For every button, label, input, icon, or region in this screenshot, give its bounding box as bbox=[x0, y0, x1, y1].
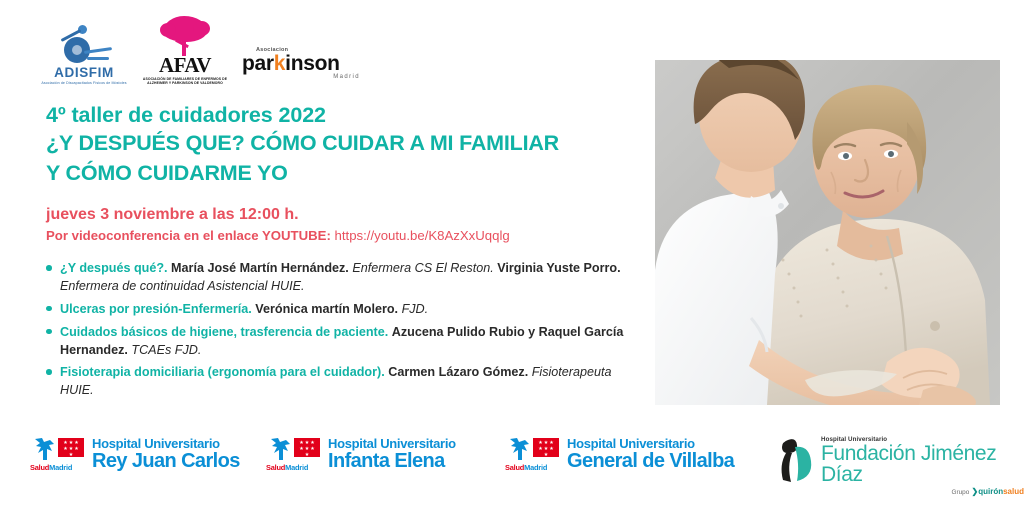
bear-and-tree-icon bbox=[505, 437, 531, 462]
wheelchair-person-icon bbox=[54, 23, 114, 65]
salud-text: Salud bbox=[505, 463, 524, 472]
hospital-line-1: Hospital Universitario bbox=[567, 437, 734, 451]
logo-adisfim: ADISFIM Asociación de Discapacitados Fís… bbox=[40, 23, 128, 86]
talk-speaker-role: TCAEs FJD. bbox=[131, 343, 201, 357]
footer-logos: ★★★ ★★★ ★ SaludMadrid Hospital Universit… bbox=[0, 432, 1024, 494]
logo-hospital-general-de-villalba: ★★★ ★★★ ★ SaludMadrid Hospital Universit… bbox=[505, 437, 734, 473]
list-item: Fisioterapia domiciliaria (ergonomía par… bbox=[44, 364, 644, 400]
list-item: Cuidados básicos de higiene, trasferenci… bbox=[44, 324, 644, 360]
parkinson-wordmark: parkinson bbox=[242, 53, 360, 74]
salud-text: salud bbox=[1003, 487, 1024, 496]
adisfim-subtitle: Asociación de Discapacitados Físicos de … bbox=[40, 81, 128, 86]
parkinson-name-post: inson bbox=[285, 52, 340, 75]
madrid-flag-icon: ★★★ ★★★ ★ bbox=[533, 438, 559, 457]
headline-block: 4º taller de cuidadores 2022 ¿Y DESPUÉS … bbox=[46, 101, 646, 188]
list-item: Ulceras por presión-Enfermería. Verónica… bbox=[44, 301, 644, 319]
hospital-line-1: Hospital Universitario bbox=[328, 437, 456, 451]
hospital-line-2: General de Villalba bbox=[567, 451, 734, 473]
quiron-text: quirón bbox=[978, 487, 1003, 496]
poster-canvas: ADISFIM Asociación de Discapacitados Fís… bbox=[0, 0, 1024, 512]
talk-speaker: Carmen Lázaro Gómez. bbox=[388, 365, 528, 379]
hospital-name-block: Hospital Universitario Rey Juan Carlos bbox=[92, 437, 240, 473]
talk-speaker-role: Enfermera de continuidad Asistencial HUI… bbox=[60, 279, 305, 293]
talks-list: ¿Y después qué?. María José Martín Herná… bbox=[44, 260, 644, 405]
event-link-line: Por videoconferencia en el enlace YOUTUB… bbox=[46, 226, 646, 246]
hospital-line-2: Rey Juan Carlos bbox=[92, 451, 240, 473]
fjd-text-block: Hospital Universitario Fundación Jiménez… bbox=[821, 436, 1024, 496]
salud-text: Salud bbox=[30, 463, 49, 472]
salud-madrid-mark: ★★★ ★★★ ★ SaludMadrid bbox=[266, 437, 322, 472]
event-meta-block: jueves 3 noviembre a las 12:00 h. Por vi… bbox=[46, 203, 646, 246]
afav-name: AFAV bbox=[142, 56, 228, 75]
event-date: jueves 3 noviembre a las 12:00 h. bbox=[46, 203, 646, 226]
madrid-text: Madrid bbox=[49, 463, 72, 472]
talk-topic: Fisioterapia domiciliaria (ergonomía par… bbox=[60, 365, 385, 379]
nurse-with-elderly-woman-photo bbox=[655, 60, 1000, 405]
parkinson-name-k: k bbox=[274, 52, 285, 75]
hospital-name-block: Hospital Universitario Infanta Elena bbox=[328, 437, 456, 473]
list-item: ¿Y después qué?. María José Martín Herná… bbox=[44, 260, 644, 296]
talk-topic: Cuidados básicos de higiene, trasferenci… bbox=[60, 325, 388, 339]
headline-line-3: Y CÓMO CUIDARME YO bbox=[46, 159, 646, 188]
fjd-group-label: Grupo bbox=[952, 489, 970, 496]
salud-madrid-wordmark: SaludMadrid bbox=[505, 463, 561, 472]
fjd-group-line: Grupo ❯quirónsalud bbox=[821, 488, 1024, 496]
logo-fundacion-jimenez-diaz: Hospital Universitario Fundación Jiménez… bbox=[775, 436, 1024, 496]
bullet-icon bbox=[46, 306, 52, 312]
talk-speaker-role: FJD. bbox=[402, 302, 429, 316]
logo-parkinson: Asociacion parkinson Madrid bbox=[242, 47, 360, 86]
logo-afav: AFAV ASOCIACIÓN DE FAMILIARES DE ENFERMO… bbox=[142, 16, 228, 86]
fjd-symbol-icon bbox=[775, 436, 817, 484]
bear-and-tree-icon bbox=[30, 437, 56, 462]
bullet-icon bbox=[46, 369, 52, 375]
bear-and-tree-icon bbox=[266, 437, 292, 462]
talk-speaker: Verónica martín Molero. bbox=[255, 302, 398, 316]
parkinson-name-pre: par bbox=[242, 52, 274, 75]
talk-topic: ¿Y después qué?. bbox=[60, 261, 168, 275]
logo-hospital-rey-juan-carlos: ★★★ ★★★ ★ SaludMadrid Hospital Universit… bbox=[30, 437, 240, 473]
bullet-icon bbox=[46, 265, 52, 271]
fjd-line-2: Fundación Jiménez Díaz bbox=[821, 443, 1024, 486]
salud-text: Salud bbox=[266, 463, 285, 472]
madrid-flag-icon: ★★★ ★★★ ★ bbox=[58, 438, 84, 457]
headline-line-1: 4º taller de cuidadores 2022 bbox=[46, 101, 646, 129]
madrid-text: Madrid bbox=[285, 463, 308, 472]
talk-speaker: Virginia Yuste Porro. bbox=[497, 261, 620, 275]
hospital-line-1: Hospital Universitario bbox=[92, 437, 240, 451]
afav-subtitle: ASOCIACIÓN DE FAMILIARES DE ENFERMOS DE … bbox=[142, 77, 228, 86]
logo-hospital-infanta-elena: ★★★ ★★★ ★ SaludMadrid Hospital Universit… bbox=[266, 437, 456, 473]
hospital-line-2: Infanta Elena bbox=[328, 451, 456, 473]
talk-speaker-role: Enfermera CS El Reston. bbox=[352, 261, 493, 275]
bullet-icon bbox=[46, 329, 52, 335]
youtube-link[interactable]: https://youtu.be/K8AzXxUqqlg bbox=[335, 228, 510, 243]
headline-line-2: ¿Y DESPUÉS QUE? CÓMO CUIDAR A MI FAMILIA… bbox=[46, 129, 646, 158]
talk-speaker: María José Martín Hernández. bbox=[171, 261, 349, 275]
partner-logos: ADISFIM Asociación de Discapacitados Fís… bbox=[40, 8, 360, 86]
salud-madrid-mark: ★★★ ★★★ ★ SaludMadrid bbox=[505, 437, 561, 472]
adisfim-name: ADISFIM bbox=[40, 66, 128, 80]
madrid-flag-icon: ★★★ ★★★ ★ bbox=[294, 438, 320, 457]
talk-topic: Ulceras por presión-Enfermería. bbox=[60, 302, 252, 316]
tree-icon bbox=[159, 16, 211, 56]
salud-madrid-wordmark: SaludMadrid bbox=[30, 463, 86, 472]
salud-madrid-mark: ★★★ ★★★ ★ SaludMadrid bbox=[30, 437, 86, 472]
madrid-text: Madrid bbox=[524, 463, 547, 472]
hospital-name-block: Hospital Universitario General de Villal… bbox=[567, 437, 734, 473]
event-link-label: Por videoconferencia en el enlace YOUTUB… bbox=[46, 228, 331, 243]
salud-madrid-wordmark: SaludMadrid bbox=[266, 463, 322, 472]
